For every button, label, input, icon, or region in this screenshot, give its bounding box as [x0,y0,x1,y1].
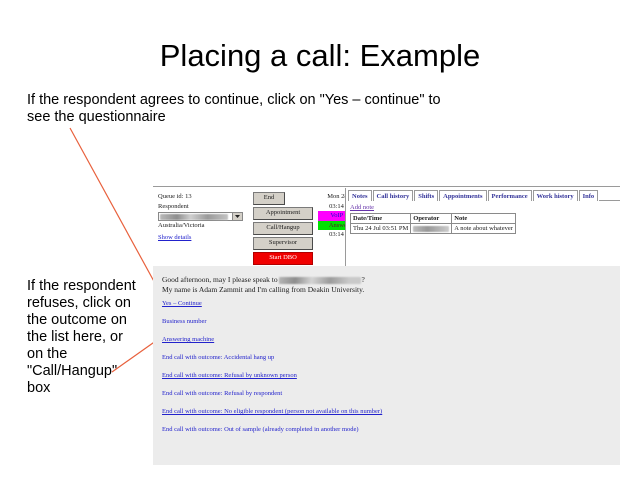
link-yes-continue[interactable]: Yes – Continue [162,300,602,308]
cell-operator [411,224,452,234]
start-dbo-button[interactable]: Start DBO [253,252,313,265]
supervisor-button[interactable]: Supervisor [253,237,313,250]
call-script-text: Good afternoon, may I please speak to ? … [162,275,522,295]
tab-shifts[interactable]: Shifts [414,190,438,201]
tab-work-history[interactable]: Work history [533,190,578,201]
app-screenshot: Queue id: 13 Respondent Australia/Victor… [153,186,620,465]
col-note: Note [452,214,516,224]
link-business-number[interactable]: Business number [162,318,602,326]
link-answering-machine[interactable]: Answering machine [162,336,602,344]
tab-panel: Notes Call history Shifts Appointments P… [345,188,620,266]
col-operator: Operator [411,214,452,224]
primary-outcome-links: Yes – Continue Business number Answering… [162,300,602,354]
script-line1-prefix: Good afternoon, may I please speak to [162,275,279,284]
appointment-button[interactable]: Appointment [253,207,313,220]
cell-datetime: Thu 24 Jul 03:51 PM [351,224,411,234]
callout-left-text: If the respondent refuses, click on the … [27,278,137,397]
tab-info[interactable]: Info [579,190,599,201]
respondent-value-redacted [160,214,228,220]
app-header-panel: Queue id: 13 Respondent Australia/Victor… [153,186,620,267]
script-line2: My name is Adam Zammit and I'm calling f… [162,285,364,294]
timezone-label: Australia/Victoria [158,221,250,231]
table-header-row: Date/Time Operator Note [351,214,516,224]
app-script-panel: Good afternoon, may I please speak to ? … [153,266,620,465]
link-outcome-out-of-sample[interactable]: End call with outcome: Out of sample (al… [162,426,612,434]
notes-table: Date/Time Operator Note Thu 24 Jul 03:51… [350,213,516,234]
tab-appointments[interactable]: Appointments [439,190,486,201]
respondent-select[interactable] [158,212,243,221]
col-datetime: Date/Time [351,214,411,224]
call-info-column: Queue id: 13 Respondent Australia/Victor… [158,192,250,242]
respondent-name-redacted [279,277,361,284]
page-title: Placing a call: Example [0,38,640,74]
slide-canvas: Placing a call: Example If the responden… [0,0,640,480]
link-outcome-no-eligible-respondent[interactable]: End call with outcome: No eligible respo… [162,408,612,416]
link-outcome-refusal-respondent[interactable]: End call with outcome: Refusal by respon… [162,390,612,398]
tab-strip: Notes Call history Shifts Appointments P… [348,190,620,201]
tab-performance[interactable]: Performance [488,190,532,201]
cell-note: A note about whatever [452,224,516,234]
queue-id-label: Queue id: 13 [158,192,250,202]
add-note-link[interactable]: Add note [350,204,620,211]
link-outcome-accidental-hangup[interactable]: End call with outcome: Accidental hang u… [162,354,612,362]
tab-strip-filler [599,190,620,201]
script-line1-suffix: ? [361,275,364,284]
call-action-buttons: End Appointment Call/Hangup Supervisor S… [253,192,313,267]
show-details-link[interactable]: Show details [158,233,250,243]
respondent-label: Respondent [158,202,250,212]
end-button[interactable]: End [253,192,285,205]
call-hangup-button[interactable]: Call/Hangup [253,222,313,235]
tab-call-history[interactable]: Call history [373,190,414,201]
chevron-down-icon[interactable] [232,213,242,220]
end-call-outcome-links: End call with outcome: Accidental hang u… [162,354,612,444]
tab-notes[interactable]: Notes [348,190,372,201]
table-row[interactable]: Thu 24 Jul 03:51 PM A note about whateve… [351,224,516,234]
link-outcome-refusal-unknown-person[interactable]: End call with outcome: Refusal by unknow… [162,372,612,380]
callout-top-text: If the respondent agrees to continue, cl… [27,92,457,126]
operator-redacted [413,226,449,232]
arrow-top [70,128,162,296]
